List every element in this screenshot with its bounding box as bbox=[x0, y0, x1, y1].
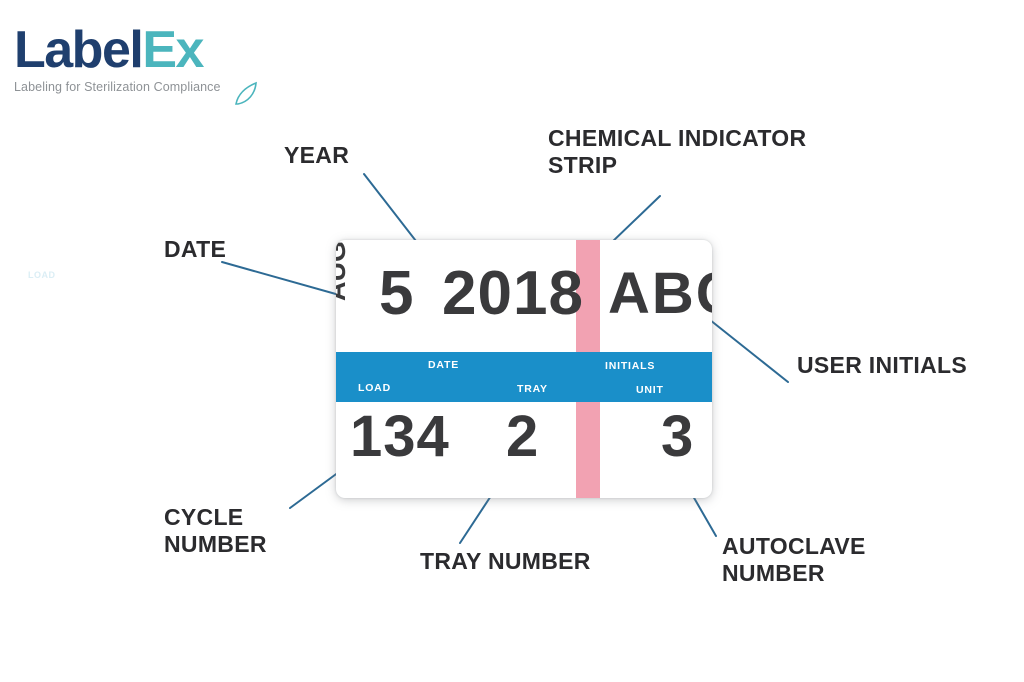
user-initials-value: ABC bbox=[608, 265, 712, 323]
legend-band: DATE INITIALS LOAD TRAY UNIT bbox=[336, 352, 712, 402]
year-value: 2018 bbox=[442, 263, 584, 325]
callout-label-date: DATE bbox=[164, 236, 226, 263]
day-value: 5 bbox=[379, 263, 412, 325]
logo-tagline: Labeling for Sterilization Compliance bbox=[14, 80, 264, 94]
labelex-logo: LabelEx Labeling for Sterilization Compl… bbox=[14, 24, 264, 100]
sterilization-label-card: AUG 5 2018 ABC DATE INITIALS LOAD TRAY U… bbox=[336, 240, 712, 498]
month-value: AUG bbox=[336, 241, 350, 301]
callout-label-tray-number: TRAY NUMBER bbox=[420, 548, 591, 575]
leader-line-date bbox=[222, 262, 350, 298]
card-date-row: AUG 5 2018 ABC bbox=[336, 240, 712, 352]
callout-label-user-initials: USER INITIALS bbox=[797, 352, 997, 379]
watermark-load-text: LOAD bbox=[28, 270, 56, 280]
logo-wordmark: LabelEx bbox=[14, 24, 264, 76]
legend-label-unit: UNIT bbox=[636, 384, 664, 396]
legend-label-date: DATE bbox=[428, 359, 459, 371]
callout-label-chemical-indicator-strip: CHEMICAL INDICATOR STRIP bbox=[548, 125, 808, 179]
legend-label-load: LOAD bbox=[358, 382, 391, 394]
leader-line-user-initials bbox=[700, 312, 788, 382]
callout-label-year: YEAR bbox=[284, 142, 349, 169]
tray-number-value: 2 bbox=[506, 408, 538, 466]
load-number-value: 134 bbox=[350, 408, 450, 466]
callout-label-autoclave-number: AUTOCLAVE NUMBER bbox=[722, 533, 932, 587]
legend-label-initials: INITIALS bbox=[605, 360, 655, 372]
logo-wordmark-label: Label bbox=[14, 21, 142, 79]
callout-label-cycle-number: CYCLE NUMBER bbox=[164, 504, 344, 558]
card-number-row: 134 2 3 bbox=[336, 402, 712, 498]
logo-wordmark-ex: Ex bbox=[142, 21, 203, 79]
legend-label-tray: TRAY bbox=[517, 383, 548, 395]
unit-number-value: 3 bbox=[661, 408, 693, 466]
leaf-icon bbox=[232, 80, 258, 106]
